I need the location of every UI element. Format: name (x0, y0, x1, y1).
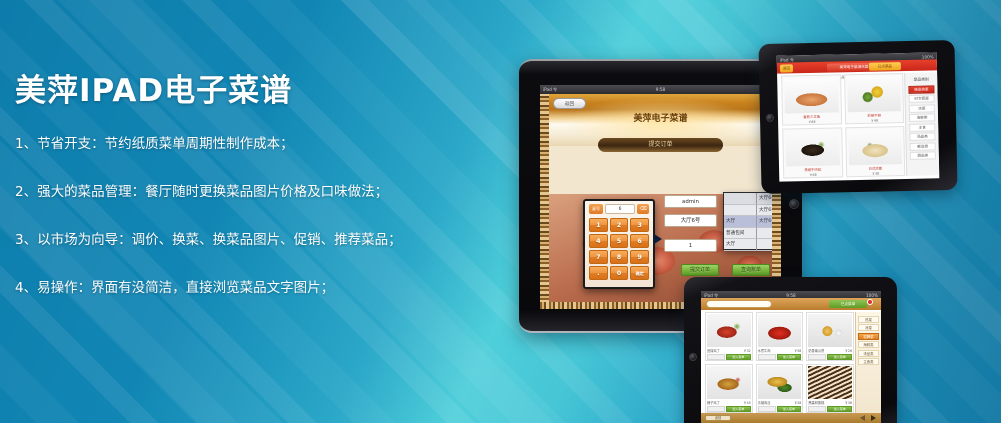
sidebar-item[interactable]: 汤品类 (858, 350, 879, 357)
table-cell[interactable] (724, 205, 757, 217)
ordered-items-button[interactable]: 已点菜品 (869, 62, 901, 71)
home-button[interactable] (789, 199, 799, 209)
table-cell[interactable]: 普通包间 (724, 228, 757, 240)
keypad-key[interactable]: 2 (610, 218, 629, 232)
app-title: 美萍电子菜谱 (549, 111, 772, 124)
sidebar-header: 菜品类别 (905, 74, 937, 84)
main-tablet-screen: iPad 令 9:58 100% 美萍电子菜谱 提交订单 返回 桌号 6 (540, 85, 781, 309)
add-to-order-button[interactable]: 加入菜单 (827, 406, 852, 412)
next-page-icon[interactable] (871, 415, 876, 421)
query-bill-button[interactable]: 查询账单 (732, 264, 770, 276)
keypad-key[interactable]: 8 (610, 250, 629, 264)
dish-price: ￥38 (847, 170, 905, 176)
dish-price: ￥36 (845, 400, 852, 405)
sidebar-item[interactable]: 热菜 (858, 316, 879, 323)
dish-name: 黑森林蛋糕 (808, 400, 824, 405)
app-toolbar: 返回 美萍电子菜谱点菜 已点菜品 (777, 59, 937, 73)
dish-card[interactable]: 彩椒牛柳 ￥48 (844, 73, 905, 124)
dish-actions: 加入菜单 (758, 354, 802, 360)
dish-photo (808, 314, 852, 347)
add-to-order-button[interactable]: 加入菜单 (726, 406, 751, 412)
dish-card[interactable]: 水煮牛肉 ￥58 加入菜单 (756, 312, 804, 361)
page-title: 美萍IPAD电子菜谱 (15, 70, 485, 112)
table-cell-selected[interactable]: 大厅 (724, 216, 757, 228)
sidebar-item[interactable]: 甜品类 (910, 151, 936, 160)
dish-card[interactable]: 奶香南瓜饼 ￥26 加入菜单 (806, 312, 854, 361)
ordered-items-button[interactable]: 已点菜单 (829, 300, 867, 308)
dish-photo (784, 77, 838, 113)
keypad-key[interactable]: 9 (630, 250, 649, 264)
home-button[interactable] (689, 353, 697, 361)
table-cell[interactable]: 大厅 (724, 239, 757, 251)
keypad-key[interactable]: 3 (630, 218, 649, 232)
sidebar-item[interactable]: 海鲜类 (909, 113, 935, 122)
quantity-stepper[interactable] (707, 406, 725, 412)
keypad-key[interactable]: . (589, 266, 608, 280)
dish-name: 奶香南瓜饼 (808, 348, 824, 353)
table-cell[interactable] (724, 193, 757, 205)
promo-bullet-2: 2、强大的菜品管理：餐厅随时更换菜品图片价格及口味做法； (15, 183, 388, 201)
add-to-order-button[interactable]: 加入菜单 (726, 354, 751, 360)
dish-name: 青椒肉丝 (758, 400, 771, 405)
dish-photo (848, 129, 902, 165)
dish-card[interactable]: 黑椒牛肉粒 ￥68 (782, 127, 843, 178)
status-time: 9:58 (540, 85, 781, 94)
category-sidebar: 菜品类别 精品热菜 时令蔬菜 凉菜 海鲜类 主食 汤品类 靓汤煲 甜品类 (904, 72, 939, 176)
quantity-stepper[interactable] (758, 354, 776, 360)
keypad-key[interactable]: 1 (589, 218, 608, 232)
quantity-stepper[interactable] (707, 354, 725, 360)
dish-card[interactable]: 青椒肉丝 ￥28 加入菜单 (756, 364, 804, 413)
dish-grid: 香煎三文鱼 ￥88 彩椒牛柳 ￥48 黑椒牛肉粒 ￥68 日式凉面 ￥38 (781, 73, 905, 179)
pointer-cursor-icon (654, 234, 662, 244)
dish-actions: 加入菜单 (707, 406, 751, 412)
dish-meta: 奶香南瓜饼 ￥26 (808, 348, 852, 353)
keypad-grid: 1 2 3 4 5 6 7 8 9 . 0 确定 (589, 218, 649, 280)
dish-photo (707, 314, 751, 347)
dish-meta: 宫保鸡丁 ￥32 (707, 348, 751, 353)
sidebar-item[interactable]: 时令蔬菜 (909, 94, 935, 103)
add-to-order-button[interactable]: 加入菜单 (777, 406, 802, 412)
dish-price: ￥68 (784, 171, 842, 177)
bottom-right-tablet-device: iPad 令 9:58 100% 已点菜单 宫保鸡丁 ￥32 (684, 277, 897, 423)
prev-page-icon[interactable] (860, 415, 865, 421)
keypad-value: 6 (605, 204, 635, 214)
count-field[interactable]: 1 (664, 239, 717, 252)
dish-card[interactable]: 日式凉面 ￥38 (845, 126, 906, 177)
dish-actions: 加入菜单 (707, 354, 751, 360)
dish-name: 水煮牛肉 (758, 348, 771, 353)
top-right-tablet-device: iPad 令 100% 返回 美萍电子菜谱点菜 已点菜品 美国片vs特别餐厅专属… (758, 40, 957, 194)
dish-name: 辣子鸡丁 (707, 400, 720, 405)
quantity-stepper[interactable] (808, 354, 826, 360)
dish-card[interactable]: 香煎三文鱼 ￥88 (781, 74, 842, 125)
promo-bullet-1: 1、节省开支：节约纸质菜单周期性制作成本； (15, 135, 294, 153)
keypad-key[interactable]: 4 (589, 234, 608, 248)
sidebar-item-active[interactable]: 精品热菜 (908, 85, 934, 94)
keypad-key[interactable]: 0 (610, 266, 629, 280)
dish-photo (808, 366, 852, 399)
dish-photo (847, 76, 901, 112)
add-to-order-button[interactable]: 加入菜单 (827, 354, 852, 360)
promo-banner: 美萍IPAD电子菜谱 1、节省开支：节约纸质菜单周期性制作成本； 2、强大的菜品… (0, 0, 1001, 423)
app-footer: 返回 (701, 413, 881, 423)
dish-meta: 黑森林蛋糕 ￥36 (808, 400, 852, 405)
sidebar-item[interactable]: 主食类 (858, 358, 879, 365)
quantity-stepper[interactable] (758, 406, 776, 412)
sidebar-item[interactable]: 靓汤煲 (910, 142, 936, 151)
dish-price: ￥48 (846, 117, 904, 123)
back-button[interactable]: 返回 (780, 64, 793, 72)
dish-photo (785, 130, 839, 166)
dish-actions: 加入菜单 (808, 354, 852, 360)
dish-meta: 水煮牛肉 ￥58 (758, 348, 802, 353)
keypad-key[interactable]: 5 (610, 234, 629, 248)
dish-actions: 加入菜单 (758, 406, 802, 412)
notification-badge (867, 299, 873, 305)
bottom-right-tablet-screen: iPad 令 9:58 100% 已点菜单 宫保鸡丁 ￥32 (701, 291, 881, 423)
sidebar-item[interactable]: 凉菜 (858, 324, 879, 331)
dish-card[interactable]: 辣子鸡丁 ￥45 加入菜单 (705, 364, 753, 413)
table-field[interactable]: 大厅6号 (664, 214, 717, 227)
sidebar-item[interactable]: 汤品类 (909, 132, 935, 141)
sidebar-item-active[interactable]: 招牌菜 (858, 333, 879, 340)
promo-bullet-4: 4、易操作：界面有没简洁，直接浏览菜品文字图片； (15, 279, 334, 297)
app-toolbar: 已点菜单 (701, 298, 881, 310)
home-button[interactable] (766, 114, 774, 122)
sidebar-item[interactable]: 凉菜 (909, 104, 935, 113)
sidebar-item[interactable]: 海鲜类 (858, 341, 879, 348)
dish-photo (758, 366, 802, 399)
keypad-key[interactable]: 7 (589, 250, 608, 264)
dish-photo (758, 314, 802, 347)
dish-meta: 辣子鸡丁 ￥45 (707, 400, 751, 405)
dish-meta: 青椒肉丝 ￥28 (758, 400, 802, 405)
dish-price: ￥45 (743, 400, 750, 405)
dish-name: 宫保鸡丁 (707, 348, 720, 353)
promo-copy: 美萍IPAD电子菜谱 1、节省开支：节约纸质菜单周期性制作成本； 2、强大的菜品… (15, 70, 485, 112)
dish-price: ￥28 (794, 400, 801, 405)
dish-price: ￥58 (794, 348, 801, 353)
dish-price: ￥26 (845, 348, 852, 353)
keypad-label: 桌号 (589, 204, 603, 214)
sub-action-bar[interactable]: 提交订单 (598, 138, 723, 152)
sub-action-label: 提交订单 (598, 139, 723, 148)
dish-price: ￥88 (783, 118, 841, 124)
dish-card[interactable]: 黑森林蛋糕 ￥36 加入菜单 (806, 364, 854, 413)
quantity-stepper[interactable] (808, 406, 826, 412)
dish-actions: 加入菜单 (808, 406, 852, 412)
dish-price: ￥32 (743, 348, 750, 353)
ios-status-bar: iPad 令 9:58 100% (540, 85, 781, 94)
backspace-icon[interactable]: ⌫ (637, 204, 649, 214)
sidebar-item[interactable]: 主食 (909, 123, 935, 132)
search-input[interactable] (706, 300, 772, 308)
numeric-keypad[interactable]: 桌号 6 ⌫ 1 2 3 4 5 6 7 8 9 . (583, 199, 655, 289)
add-to-order-button[interactable]: 加入菜单 (777, 354, 802, 360)
dish-card[interactable]: 宫保鸡丁 ￥32 加入菜单 (705, 312, 753, 361)
back-button[interactable]: 返回 (553, 98, 586, 109)
top-right-tablet-screen: iPad 令 100% 返回 美萍电子菜谱点菜 已点菜品 美国片vs特别餐厅专属… (777, 52, 940, 181)
dish-grid: 宫保鸡丁 ￥32 加入菜单 水煮牛肉 ￥58 (705, 312, 854, 413)
back-button[interactable]: 返回 (705, 415, 731, 421)
keypad-confirm-key[interactable]: 确定 (630, 266, 649, 280)
category-sidebar: 热菜 凉菜 招牌菜 海鲜类 汤品类 主食类 (855, 312, 881, 413)
ornamental-border-left (540, 94, 549, 309)
keypad-display-row: 桌号 6 ⌫ (589, 204, 649, 214)
dish-photo (707, 366, 751, 399)
submit-order-button[interactable]: 提交订单 (681, 264, 719, 276)
promo-bullet-3: 3、以市场为向导：调价、换菜、换菜品图片、促销、推荐菜品； (15, 231, 402, 249)
keypad-key[interactable]: 6 (630, 234, 649, 248)
user-field[interactable]: admin (664, 195, 717, 208)
